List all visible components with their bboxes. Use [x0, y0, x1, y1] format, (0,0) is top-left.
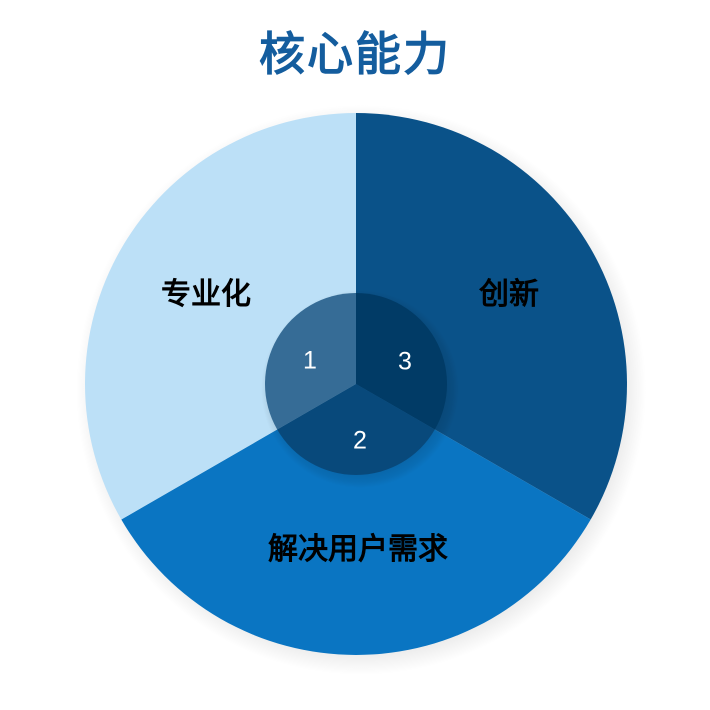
pie-slice-label-解决用户需求: 解决用户需求 — [268, 524, 448, 568]
donut-chart-canvas — [0, 0, 710, 710]
inner-slice-label-2: 2 — [353, 427, 367, 456]
pie-slice-label-创新: 创新 — [479, 269, 539, 313]
page-title: 核心能力 — [0, 28, 710, 81]
inner-slice-label-3: 3 — [398, 348, 412, 377]
inner-slice-label-1: 1 — [303, 347, 317, 376]
pie-slice-label-专业化: 专业化 — [161, 269, 251, 313]
